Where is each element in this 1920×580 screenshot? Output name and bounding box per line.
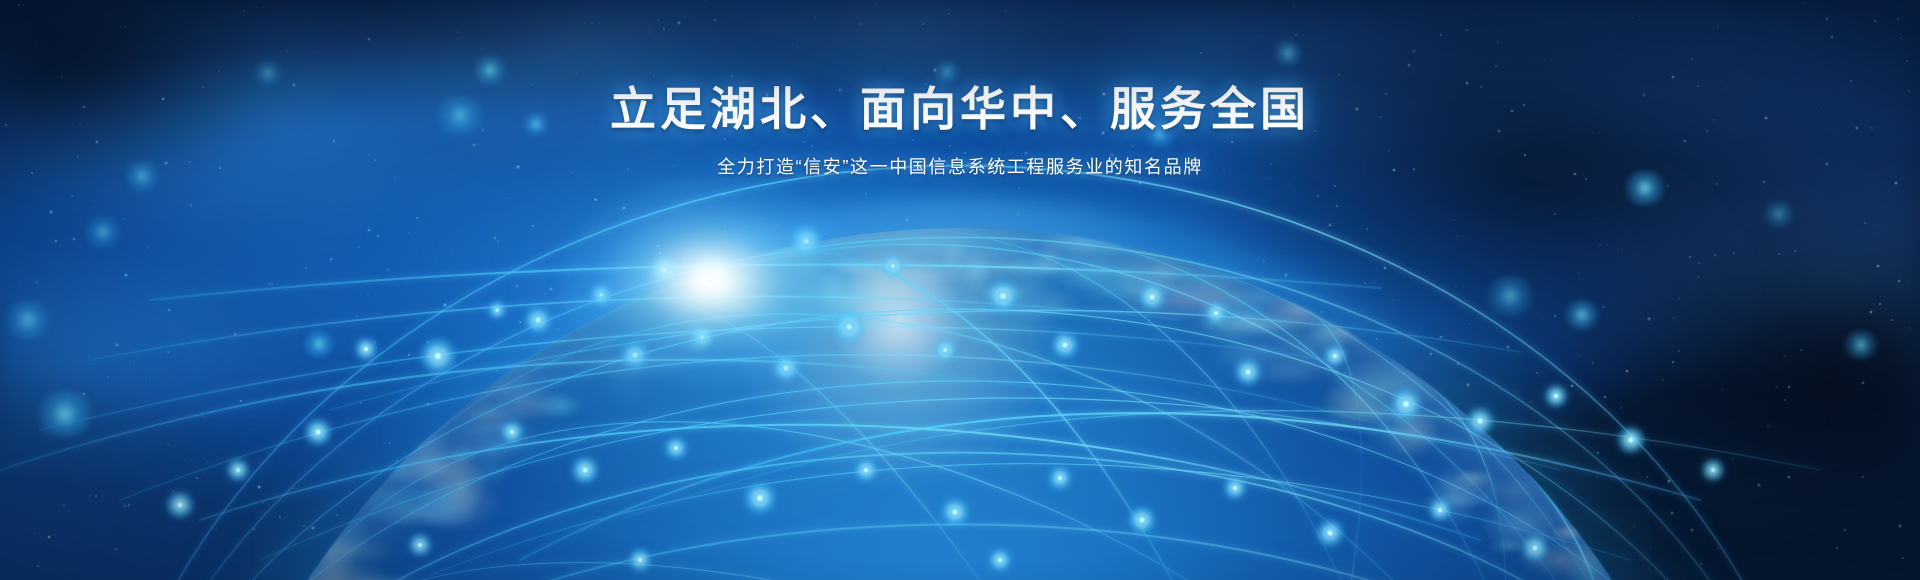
banner-subtitle: 全力打造“信安”这一中国信息系统工程服务业的知名品牌 [0,153,1920,179]
hero-text-block: 立足湖北、面向华中、服务全国 全力打造“信安”这一中国信息系统工程服务业的知名品… [0,80,1920,179]
banner-title: 立足湖北、面向华中、服务全国 [0,80,1920,139]
hero-banner: 立足湖北、面向华中、服务全国 全力打造“信安”这一中国信息系统工程服务业的知名品… [0,0,1920,580]
